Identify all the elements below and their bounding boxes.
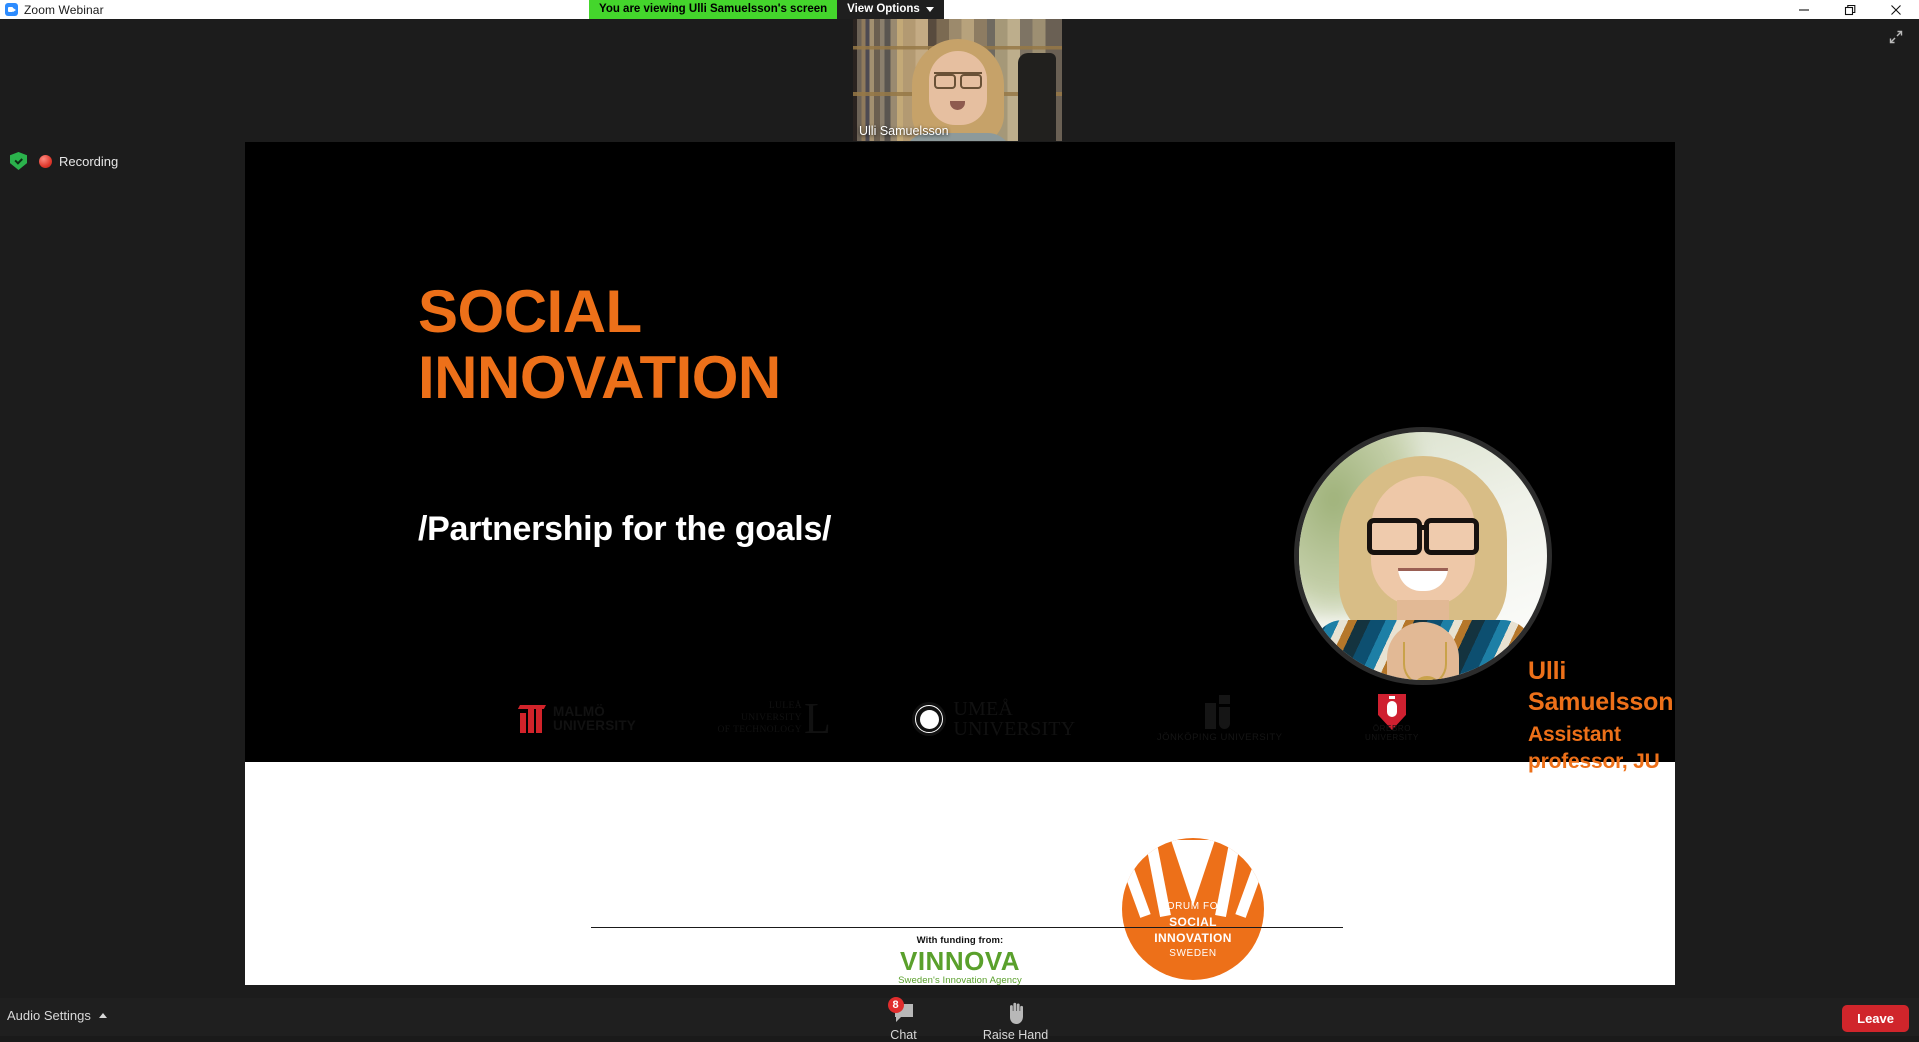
thumbnail-chair — [1018, 53, 1056, 141]
slide-divider — [591, 927, 1343, 928]
speaker-portrait-photo — [1294, 427, 1552, 685]
orebro-university-label: ÖREBRO UNIVERSITY — [1364, 724, 1420, 746]
malmo-university-label: MALMÖ UNIVERSITY — [553, 705, 636, 733]
chat-button[interactable]: 8 Chat — [866, 992, 942, 1042]
malmo-line1: MALMÖ — [553, 704, 605, 719]
encryption-shield-icon[interactable] — [10, 152, 27, 170]
chevron-up-icon — [99, 1013, 107, 1018]
portrait-glasses-bridge — [1417, 525, 1429, 530]
funding-label: With funding from: — [245, 935, 1675, 946]
slide-title: SOCIAL INNOVATION — [418, 279, 781, 411]
recording-label: Recording — [59, 154, 118, 169]
view-options-label: View Options — [847, 0, 920, 19]
slide-title-line2: INNOVATION — [418, 345, 781, 411]
view-options-dropdown[interactable]: View Options — [837, 0, 944, 19]
jonkoping-university-label: JÖNKÖPING UNIVERSITY — [1157, 732, 1283, 743]
slide-subtitle: /Partnership for the goals/ — [418, 510, 831, 549]
screen-share-banner: You are viewing Ulli Samuelsson's screen… — [589, 0, 944, 19]
window-controls — [1781, 0, 1919, 19]
maximize-button[interactable] — [1827, 0, 1873, 19]
sharing-notice: You are viewing Ulli Samuelsson's screen — [589, 0, 837, 19]
chevron-down-icon — [926, 7, 934, 12]
app-identity: Zoom Webinar — [0, 3, 104, 17]
audio-settings-label: Audio Settings — [7, 1008, 91, 1023]
umea-seal-icon — [912, 702, 946, 736]
status-indicators: Recording — [10, 152, 118, 170]
umea-university-label: UMEÅ UNIVERSITY — [953, 699, 1075, 740]
raise-hand-button[interactable]: Raise Hand — [978, 992, 1054, 1042]
recording-indicator[interactable]: Recording — [39, 154, 118, 169]
speaker-role: Assistant professor, JU — [1528, 721, 1675, 776]
thumbnail-glasses-icon — [934, 72, 982, 86]
zoom-logo-icon — [5, 3, 18, 16]
speaker-info-block: Ulli Samuelsson Assistant professor, JU … — [1528, 656, 1675, 854]
lulea-l-mark-icon: L — [804, 701, 831, 737]
funding-block: With funding from: VINNOVA Sweden's Inno… — [245, 935, 1675, 985]
participant-video-thumbnail[interactable]: Ulli Samuelsson — [853, 19, 1062, 141]
chat-label: Chat — [890, 1028, 916, 1042]
speaker-organization-line1: Forum for — [1528, 780, 1675, 803]
chat-unread-badge: 8 — [888, 997, 904, 1013]
lulea-line3: OF TECHNOLOGY — [718, 725, 802, 735]
recording-dot-icon — [39, 155, 52, 168]
raise-hand-label: Raise Hand — [983, 1028, 1048, 1042]
window-titlebar: Zoom Webinar — [0, 0, 1919, 19]
enter-fullscreen-icon[interactable] — [1881, 22, 1911, 52]
forum-logo-m-mark — [1171, 840, 1215, 906]
speaker-name: Ulli Samuelsson — [1528, 656, 1675, 719]
minimize-button[interactable] — [1781, 0, 1827, 19]
forum-logo-line1: FORUM FOR — [1122, 900, 1264, 914]
toolbar-center-actions: 8 Chat Raise Hand — [866, 992, 1054, 1042]
logo-orebro-university: ÖREBRO UNIVERSITY — [1364, 692, 1420, 746]
logo-lulea-university: LULEÅ UNIVERSITY OF TECHNOLOGY L — [718, 701, 831, 737]
umea-line1: UMEÅ — [953, 698, 1013, 720]
malmo-line2: UNIVERSITY — [553, 718, 636, 733]
shared-screen-slide[interactable]: SOCIAL INNOVATION /Partnership for the g… — [245, 142, 1675, 985]
logo-malmo-university: MALMÖ UNIVERSITY — [520, 705, 636, 733]
lulea-line2: UNIVERSITY — [741, 713, 802, 723]
portrait-glasses-icon — [1367, 518, 1479, 548]
umea-line2: UNIVERSITY — [953, 718, 1075, 740]
audio-settings-button[interactable]: Audio Settings — [7, 1008, 107, 1023]
vinnova-logo-text: VINNOVA — [245, 947, 1675, 976]
malmo-bars-icon — [520, 705, 546, 733]
vinnova-tagline: Sweden's Innovation Agency — [245, 975, 1675, 985]
slide-title-line1: SOCIAL — [418, 279, 781, 345]
logo-umea-university: UMEÅ UNIVERSITY — [912, 699, 1075, 740]
partner-university-logos: MALMÖ UNIVERSITY LULEÅ UNIVERSITY OF TEC… — [520, 689, 1420, 749]
meeting-toolbar: Audio Settings 8 Chat Raise Hand Leave — [0, 998, 1919, 1036]
jonkoping-j-mark-icon — [1205, 695, 1235, 729]
thumbnail-participant-name: Ulli Samuelsson — [859, 124, 949, 138]
close-button[interactable] — [1873, 0, 1919, 19]
speaker-organization-line2: Social Innovation Sweden — [1528, 808, 1675, 854]
raise-hand-icon — [1005, 1000, 1027, 1026]
leave-button[interactable]: Leave — [1842, 1005, 1909, 1032]
logo-jonkoping-university: JÖNKÖPING UNIVERSITY — [1157, 695, 1283, 743]
lulea-line1: LULEÅ — [769, 701, 802, 711]
window-title: Zoom Webinar — [24, 3, 104, 17]
chat-icon: 8 — [892, 1000, 916, 1026]
lulea-university-label: LULEÅ UNIVERSITY OF TECHNOLOGY — [718, 701, 802, 737]
